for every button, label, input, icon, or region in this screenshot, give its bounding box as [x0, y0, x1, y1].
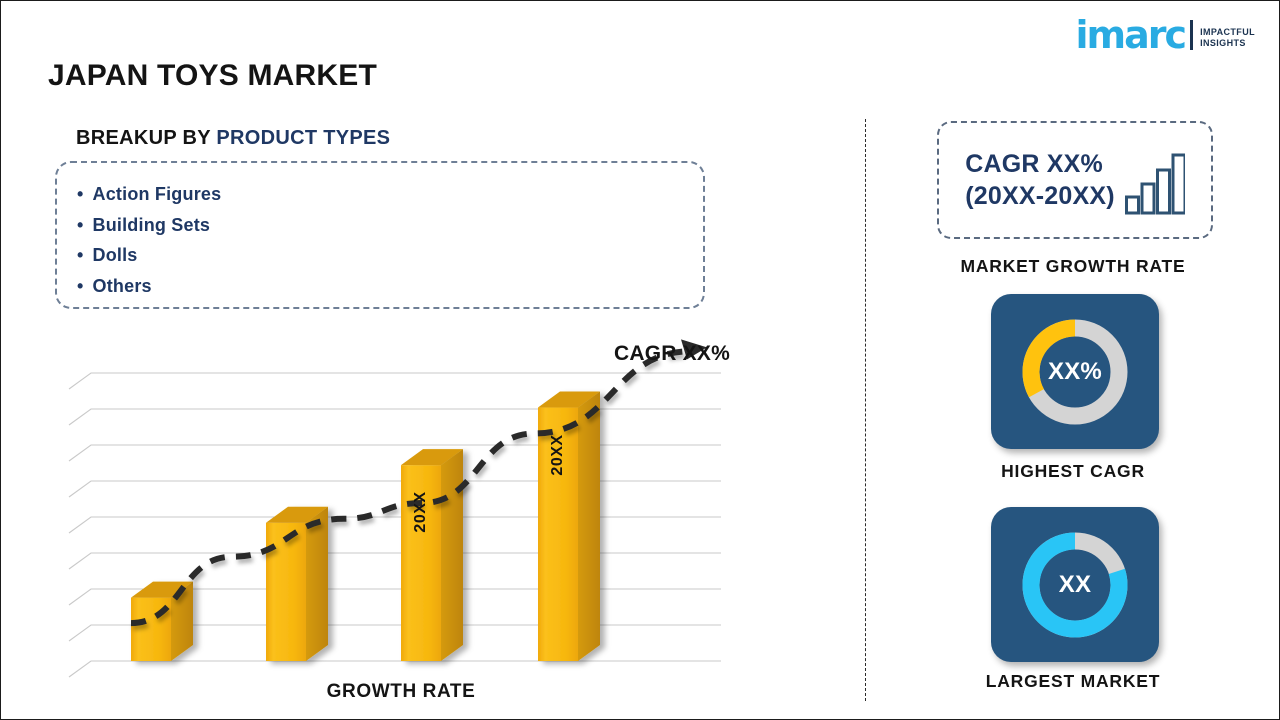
list-item: Dolls: [77, 240, 703, 271]
market-growth-rate-caption: MARKET GROWTH RATE: [865, 256, 1280, 277]
market-growth-rate-box: CAGR XX% (20XX-20XX): [937, 121, 1213, 239]
chart-xlabel: GROWTH RATE: [51, 681, 751, 703]
page-title: JAPAN TOYS MARKET: [48, 59, 377, 93]
product-type-label: Building Sets: [93, 215, 211, 235]
largest-market-card: XX: [991, 507, 1159, 662]
cagr-period: (20XX-20XX): [965, 180, 1115, 212]
highest-cagr-card: XX%: [991, 294, 1159, 449]
product-type-label: Others: [93, 276, 152, 296]
list-item: Building Sets: [77, 210, 703, 241]
list-item: Others: [77, 271, 703, 302]
chart-bars: [131, 392, 600, 661]
infographic-page: imarc IMPACTFUL INSIGHTS JAPAN TOYS MARK…: [0, 0, 1280, 720]
breakup-heading: BREAKUP BY PRODUCT TYPES: [76, 127, 390, 150]
cagr-text: CAGR XX% (20XX-20XX): [965, 148, 1115, 212]
largest-market-value: XX: [1059, 571, 1091, 599]
breakup-accent: PRODUCT TYPES: [216, 127, 390, 149]
product-type-label: Dolls: [93, 245, 138, 265]
largest-market-caption: LARGEST MARKET: [865, 671, 1280, 692]
highest-cagr-caption: HIGHEST CAGR: [865, 461, 1280, 482]
bar-label-4: 20XX: [549, 415, 567, 495]
cagr-value: CAGR XX%: [965, 148, 1115, 180]
product-type-label: Action Figures: [93, 184, 222, 204]
chart-svg: [51, 331, 751, 711]
growth-rate-chart: CAGR XX% GROWTH RATE 20XX 20XX: [51, 331, 751, 711]
list-item: Action Figures: [77, 179, 703, 210]
bar-label-3: 20XX: [412, 472, 430, 552]
bar-chart-icon: [1125, 153, 1185, 215]
right-panel: CAGR XX% (20XX-20XX) MARKET GROWTH RATE …: [865, 1, 1280, 720]
highest-cagr-value: XX%: [1048, 358, 1102, 386]
chart-cagr-annotation: CAGR XX%: [614, 342, 730, 366]
breakup-prefix: BREAKUP BY: [76, 127, 216, 149]
product-types-box: Action Figures Building Sets Dolls Other…: [55, 161, 705, 309]
